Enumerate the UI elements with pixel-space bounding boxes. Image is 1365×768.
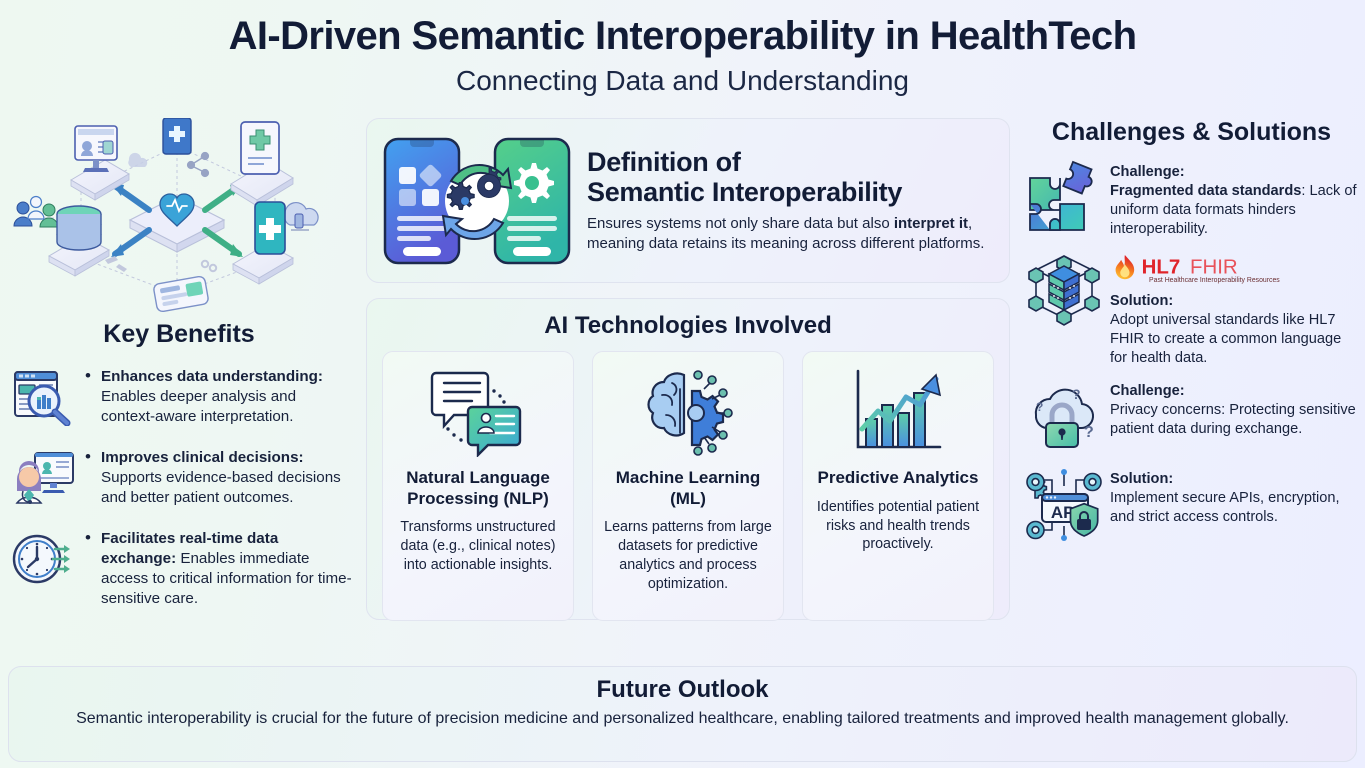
puzzle-pieces-icon (1018, 159, 1110, 237)
speech-bubbles-text-icon (428, 364, 528, 460)
solution-label: Solution: (1110, 293, 1173, 309)
doctor-monitor-record-icon (4, 446, 82, 510)
solution-label: Solution: (1110, 471, 1173, 487)
main-layout: Key Benefits (0, 118, 1365, 666)
left-column: Key Benefits (0, 118, 358, 666)
brain-gear-circuit-icon (638, 364, 738, 460)
benefit-text: Enhances data understanding: Enables dee… (82, 365, 352, 427)
definition-desc-bold: interpret it (894, 215, 968, 232)
cloud-lock-question-icon: ? ? ? (1018, 378, 1110, 456)
svg-text:FHIR: FHIR (1190, 256, 1238, 279)
ai-technologies-heading: AI Technologies Involved (381, 312, 995, 340)
challenge-body: Privacy concerns: Protecting sensitive p… (1110, 402, 1356, 437)
definition-desc-part1: Ensures systems not only share data but … (587, 215, 894, 232)
tech-description: Identifies potential patient risks and h… (814, 498, 982, 555)
solution-text: Solution: Implement secure APIs, encrypt… (1110, 466, 1365, 527)
benefit-item: Facilitates real-time data exchange: Ena… (4, 527, 352, 609)
clock-arrows-realtime-icon (4, 527, 82, 591)
solution-item: HL7 FHIR Past Healthcare Interoperabilit… (1018, 249, 1365, 368)
tech-description: Learns patterns from large datasets for … (604, 518, 772, 593)
definition-title-line2: Semantic Interoperability (587, 177, 995, 207)
definition-title-line1: Definition of (587, 147, 995, 177)
solution-item: API Solution: Implement secure APIs, enc… (1018, 466, 1365, 544)
definition-description: Ensures systems not only share data but … (587, 214, 995, 254)
benefit-item: Enhances data understanding: Enables dee… (4, 365, 352, 429)
tech-description: Transforms unstructured data (e.g., clin… (394, 518, 562, 575)
tech-name: Predictive Analytics (818, 468, 979, 489)
future-outlook-title: Future Outlook (9, 676, 1356, 704)
page-title: AI-Driven Semantic Interoperability in H… (0, 14, 1365, 59)
key-benefits-heading: Key Benefits (0, 320, 358, 349)
middle-column: Definition of Semantic Interoperability … (358, 118, 1018, 666)
health-data-network-illustration (9, 118, 349, 314)
ai-technologies-grid: Natural Language Processing (NLP) Transf… (381, 351, 995, 621)
solution-body: Adopt universal standards like HL7 FHIR … (1110, 312, 1341, 366)
tech-name: Natural Language Processing (NLP) (394, 468, 562, 509)
challenge-label: Challenge: (1110, 164, 1185, 180)
page-subtitle: Connecting Data and Understanding (0, 63, 1365, 98)
challenge-bold: Fragmented data standards (1110, 183, 1301, 199)
challenge-item: ? ? ? Challenge: Privacy concerns: Prote… (1018, 378, 1365, 456)
benefit-item: Improves clinical decisions: Supports ev… (4, 446, 352, 510)
future-outlook-text: Semantic interoperability is crucial for… (9, 708, 1356, 730)
growth-bar-chart-arrow-icon (848, 364, 948, 460)
tech-card-ml[interactable]: Machine Learning (ML) Learns patterns fr… (592, 351, 784, 621)
svg-text:Past Healthcare Interoperabili: Past Healthcare Interoperability Resourc… (1149, 277, 1280, 284)
api-shield-lock-icon: API (1018, 466, 1110, 544)
svg-text:?: ? (1072, 386, 1081, 402)
two-phones-sync-gears-icon (377, 131, 577, 271)
hl7-fhir-logo: HL7 FHIR Past Healthcare Interoperabilit… (1110, 253, 1359, 291)
challenge-text: Challenge: Fragmented data standards: La… (1110, 159, 1365, 239)
definition-title: Definition of Semantic Interoperability (587, 147, 995, 207)
challenge-item: Challenge: Fragmented data standards: La… (1018, 159, 1365, 239)
benefit-bold-label: Enhances data understanding: (101, 368, 323, 385)
future-outlook-panel: Future Outlook Semantic interoperability… (8, 666, 1357, 762)
definition-card: Definition of Semantic Interoperability … (366, 118, 1010, 283)
benefit-bold-label: Improves clinical decisions: (101, 449, 304, 466)
benefit-text: Improves clinical decisions: Supports ev… (82, 446, 352, 508)
tech-card-predictive[interactable]: Predictive Analytics Identifies potentia… (802, 351, 994, 621)
infographic-header: AI-Driven Semantic Interoperability in H… (0, 0, 1365, 98)
solution-body: Implement secure APIs, encryption, and s… (1110, 490, 1340, 525)
benefit-body: Enables deeper analysis and context-awar… (101, 388, 296, 425)
key-benefits-list: Enhances data understanding: Enables dee… (0, 365, 358, 609)
ai-technologies-card: AI Technologies Involved (366, 298, 1010, 620)
challenges-solutions-heading: Challenges & Solutions (1018, 118, 1365, 147)
document-magnifier-chart-icon (4, 365, 82, 429)
right-column: Challenges & Solutions (1018, 118, 1365, 666)
tech-name: Machine Learning (ML) (604, 468, 772, 509)
benefit-text: Facilitates real-time data exchange: Ena… (82, 527, 352, 609)
svg-text:?: ? (1036, 400, 1043, 414)
definition-body: Definition of Semantic Interoperability … (577, 147, 995, 254)
challenge-text: Challenge: Privacy concerns: Protecting … (1110, 378, 1365, 439)
challenge-label: Challenge: (1110, 383, 1185, 399)
svg-text:?: ? (1084, 424, 1094, 441)
tech-card-nlp[interactable]: Natural Language Processing (NLP) Transf… (382, 351, 574, 621)
solution-text: HL7 FHIR Past Healthcare Interoperabilit… (1110, 249, 1365, 368)
blockchain-server-nodes-icon (1018, 249, 1110, 327)
svg-text:HL7: HL7 (1142, 256, 1181, 279)
benefit-body: Supports evidence-based decisions and be… (101, 469, 341, 506)
